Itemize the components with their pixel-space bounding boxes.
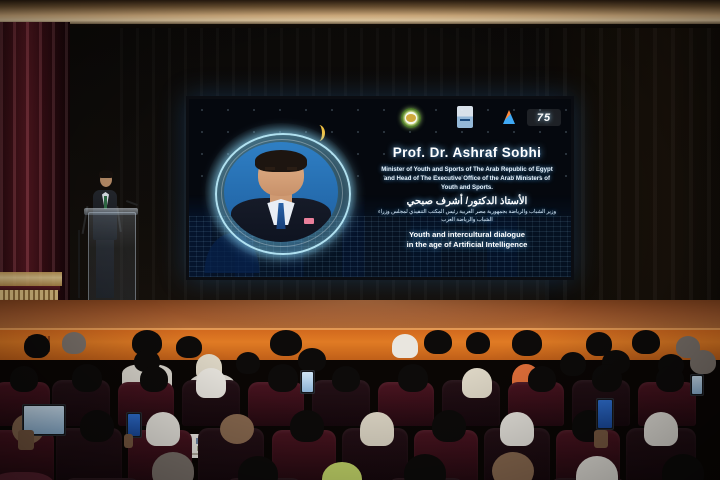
led-presentation-screen: 75 Prof. [186, 96, 574, 280]
attendee-phone [690, 374, 704, 396]
podium-top-surface [84, 208, 138, 215]
portrait-pocket-square [304, 218, 314, 224]
speaker-name-heading: Prof. Dr. Ashraf Sobhi [375, 145, 559, 161]
audience-head [644, 412, 678, 446]
event-mark-icon [503, 110, 515, 124]
audience-head [298, 348, 326, 372]
arab-league-emblem-icon [401, 108, 421, 128]
floor-microphone-stand [78, 230, 80, 298]
audience-head [662, 454, 704, 480]
audience-head [592, 364, 622, 392]
attendee-hand [594, 430, 608, 448]
audience-head [398, 364, 428, 392]
audience-head [196, 368, 226, 398]
speaker-role-arabic: وزير الشباب والرياضة بجمهورية مصر العربي… [375, 208, 559, 225]
conference-hall-photo: 75 Prof. [0, 0, 720, 480]
audience-head [10, 366, 38, 392]
attendee-hand [124, 434, 133, 448]
audience-head [236, 352, 260, 374]
audience-head [392, 334, 418, 358]
speaker-portrait-photo [224, 142, 338, 242]
audience-head [270, 330, 302, 356]
audience-head [72, 364, 102, 392]
attendee-phone-recording [596, 398, 614, 430]
screen-logo-row: 75 [385, 105, 557, 131]
audience-head [268, 364, 298, 392]
audience-head [290, 410, 324, 442]
audience-head [220, 414, 254, 444]
event-theme-line-1: Youth and intercultural dialogue [375, 230, 559, 240]
audience-head [462, 368, 492, 398]
screen-surface: 75 Prof. [189, 99, 571, 277]
ministry-badge-icon [457, 106, 473, 128]
speaker-hair [99, 170, 113, 178]
curtain-gold-trim [0, 272, 62, 286]
left-curtain-folds [0, 22, 70, 307]
attendee-hand [18, 430, 34, 450]
audience-head [500, 412, 534, 446]
audience-head [332, 366, 360, 392]
speaker-portrait-frame [215, 133, 347, 251]
audience-head [560, 352, 586, 376]
anniversary-75-badge: 75 [527, 109, 561, 126]
audience-head [140, 366, 168, 392]
event-theme-line-2: in the age of Artificial Intelligence [375, 240, 559, 250]
audience-head [24, 334, 50, 358]
audience-head [632, 330, 660, 354]
audience-head [528, 366, 556, 392]
ceiling-light-band [0, 0, 720, 26]
attendee-phone [300, 370, 315, 394]
audience-head [176, 336, 202, 358]
speaker-podium [88, 212, 136, 302]
portrait-eyes [265, 167, 297, 170]
speaker-role-english: Minister of Youth and Sports of The Arab… [375, 165, 559, 193]
audience-head [512, 330, 542, 356]
audience-head [656, 366, 684, 392]
audience-head [360, 412, 394, 446]
screen-text-block: Prof. Dr. Ashraf Sobhi Minister of Youth… [375, 145, 559, 250]
audience-seating-area [0, 330, 720, 480]
audience-head [80, 410, 114, 442]
audience-head [424, 330, 452, 354]
audience-head [466, 332, 490, 354]
audience-head [62, 332, 86, 354]
audience-head [432, 410, 466, 442]
audience-head [146, 412, 180, 446]
speaker-name-arabic: الأستاذ الدكتور/ أشرف صبحي [375, 196, 559, 207]
stage-floor-reflection [150, 300, 580, 330]
audience-head [690, 350, 716, 374]
